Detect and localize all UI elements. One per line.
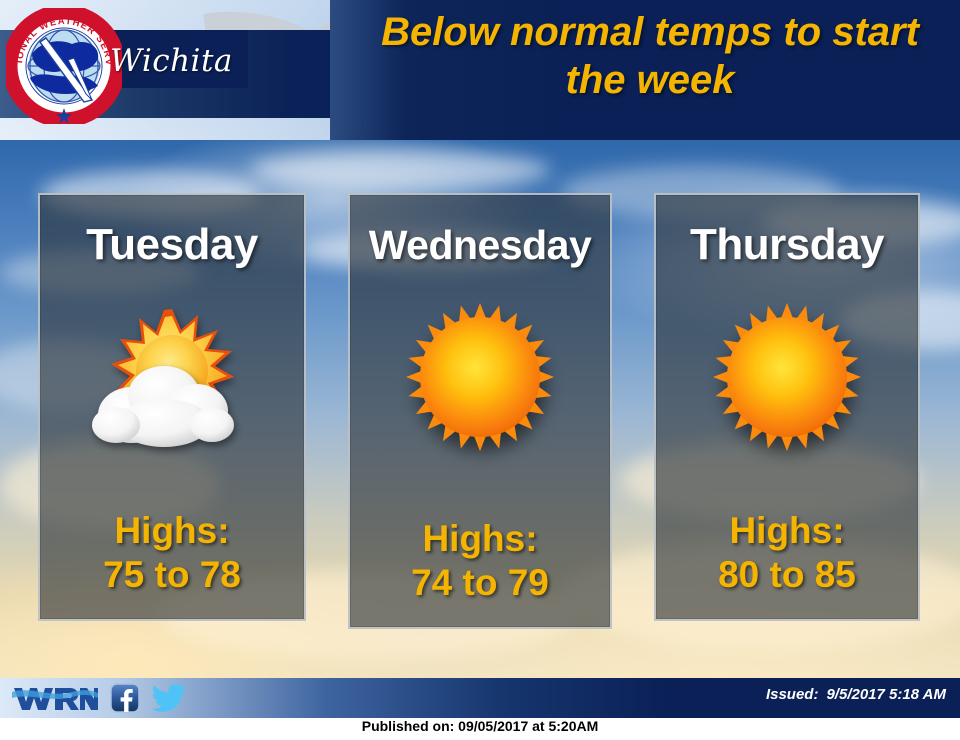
highs-value: 80 to 85	[718, 554, 856, 595]
highs-value: 75 to 78	[103, 554, 241, 595]
issued-timestamp: Issued:9/5/2017 5:18 AM	[766, 686, 946, 703]
day-name: Wednesday	[350, 219, 610, 271]
highs-text: Highs: 74 to 79	[350, 517, 610, 605]
weather-ready-nation-icon[interactable]	[12, 684, 98, 712]
weather-graphic: NATIONAL WEATHER SERVICE Wichita Below n…	[0, 0, 960, 740]
published-timestamp: Published on: 09/05/2017 at 5:20AM	[0, 718, 960, 734]
highs-text: Highs: 75 to 78	[40, 509, 304, 597]
forecast-panel-tuesday[interactable]: Tuesday	[38, 193, 306, 621]
partly-cloudy-icon	[40, 295, 304, 475]
highs-label: Highs:	[422, 518, 537, 559]
day-name: Thursday	[656, 219, 918, 271]
office-name: Wichita	[110, 36, 260, 86]
page-title: Below normal temps to start the week	[350, 8, 950, 126]
highs-label: Highs:	[729, 510, 844, 551]
issued-label: Issued:	[766, 686, 819, 703]
facebook-icon[interactable]	[110, 683, 140, 713]
header-banner: NATIONAL WEATHER SERVICE Wichita Below n…	[0, 0, 960, 140]
forecast-panel-wednesday[interactable]: Wednesday	[348, 193, 612, 629]
sunny-icon	[656, 295, 918, 475]
day-name: Tuesday	[40, 219, 304, 271]
highs-text: Highs: 80 to 85	[656, 509, 918, 597]
nws-seal-icon: NATIONAL WEATHER SERVICE	[6, 8, 122, 124]
highs-value: 74 to 79	[411, 562, 549, 603]
issued-value: 9/5/2017 5:18 AM	[826, 686, 946, 703]
sunny-icon	[350, 295, 610, 475]
forecast-panel-thursday[interactable]: Thursday Highs: 80 to 85	[654, 193, 920, 621]
twitter-icon[interactable]	[152, 684, 186, 712]
highs-label: Highs:	[114, 510, 229, 551]
